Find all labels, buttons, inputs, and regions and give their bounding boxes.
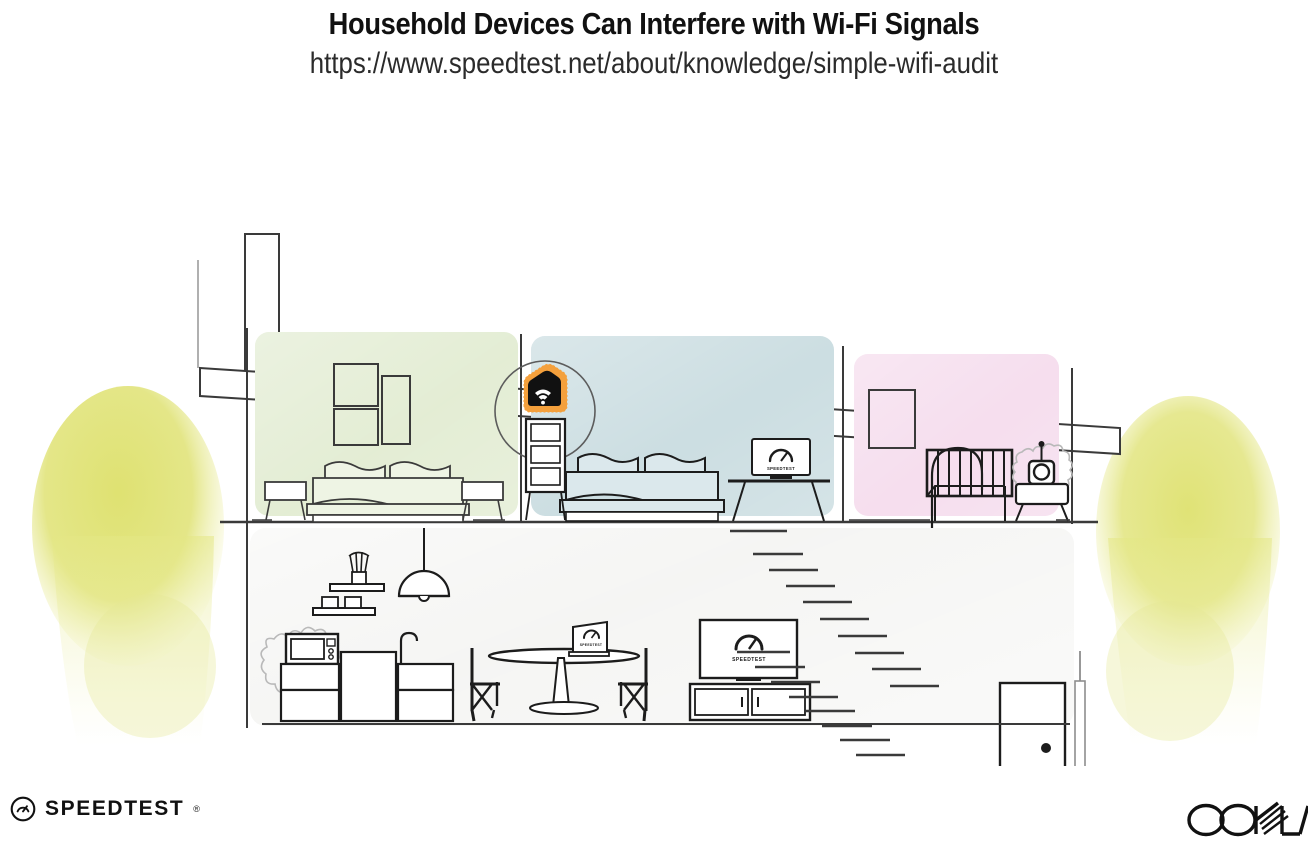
ookla-wordmark-icon [1189, 803, 1308, 835]
ookla-logo[interactable] [1186, 798, 1308, 847]
foliage-left [32, 386, 224, 746]
foliage-right [1096, 396, 1280, 746]
room-nursery-pink [849, 354, 1072, 558]
right-post [1075, 651, 1085, 766]
speedtest-wordmark: SPEEDTEST [45, 797, 184, 821]
speedtest-trademark: ® [193, 804, 200, 814]
door-knob [1041, 743, 1051, 753]
television-group: SPEEDTEST [690, 620, 810, 720]
speedtest-logo[interactable]: SPEEDTEST ® [10, 796, 200, 822]
television [700, 620, 797, 678]
media-console [690, 684, 810, 720]
page-title: Household Devices Can Interfere with Wi-… [78, 8, 1229, 41]
infographic-page: Household Devices Can Interfere with Wi-… [0, 0, 1308, 861]
monitor-screen-label: SPEEDTEST [767, 466, 795, 471]
tv-screen-label: SPEEDTEST [732, 657, 766, 663]
wifi-router [524, 364, 567, 412]
laptop: SPEEDTEST [569, 622, 609, 656]
house-illustration: SPEEDTEST [0, 106, 1308, 766]
source-url: https://www.speedtest.net/about/knowledg… [92, 47, 1217, 82]
header: Household Devices Can Interfere with Wi-… [0, 0, 1308, 81]
speedtest-gauge-icon [10, 796, 36, 822]
footer: SPEEDTEST ® [0, 790, 1308, 850]
room-bedroom-green [252, 332, 518, 522]
laptop-screen-label: SPEEDTEST [580, 643, 603, 647]
room-bedroom-blue: SPEEDTEST [495, 336, 834, 521]
